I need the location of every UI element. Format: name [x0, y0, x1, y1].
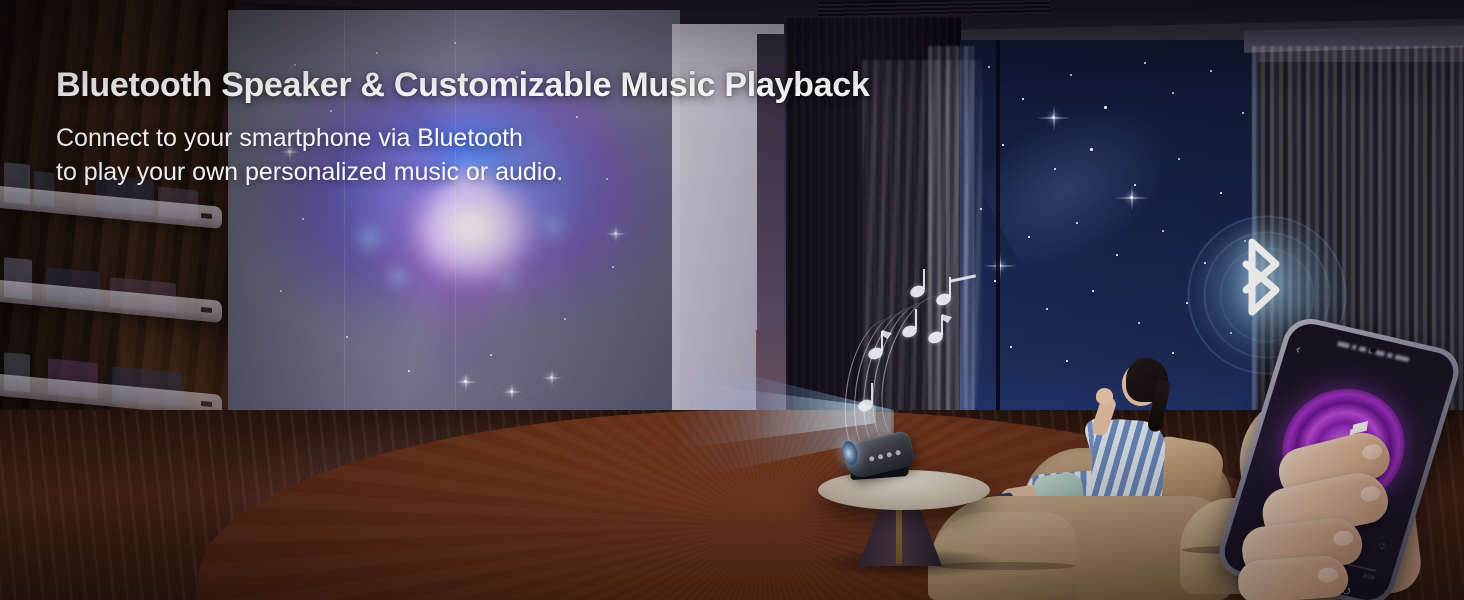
music-note-icon [868, 348, 883, 359]
back-chevron-left-icon[interactable]: ‹ [1294, 343, 1309, 357]
time-total: 3:56 [1362, 573, 1375, 581]
person-hand [1096, 388, 1113, 404]
hand-holding-phone: ‹ Telenovia Healing Glow ♡ 1:24 3: [1248, 330, 1464, 600]
banner-copy: Bluetooth Speaker & Customizable Music P… [56, 66, 1016, 189]
music-note-icon [858, 400, 873, 411]
subtext-line-1: Connect to your smartphone via Bluetooth [56, 121, 1016, 155]
music-note-icon [928, 332, 943, 343]
bright-star [1052, 116, 1055, 119]
banner-scene: ‹ Telenovia Healing Glow ♡ 1:24 3: [0, 0, 1464, 600]
bluetooth-icon [1232, 238, 1292, 316]
music-note-icon [902, 326, 917, 337]
ring-finger [1237, 554, 1350, 600]
music-note-icon [910, 286, 925, 297]
banner-subtext: Connect to your smartphone via Bluetooth… [56, 121, 1016, 189]
bright-star [1130, 196, 1133, 199]
subtext-line-2: to play your own personalized music or a… [56, 155, 1016, 189]
music-note-icon [936, 294, 951, 305]
page-title: Bluetooth Speaker & Customizable Music P… [56, 66, 1016, 105]
